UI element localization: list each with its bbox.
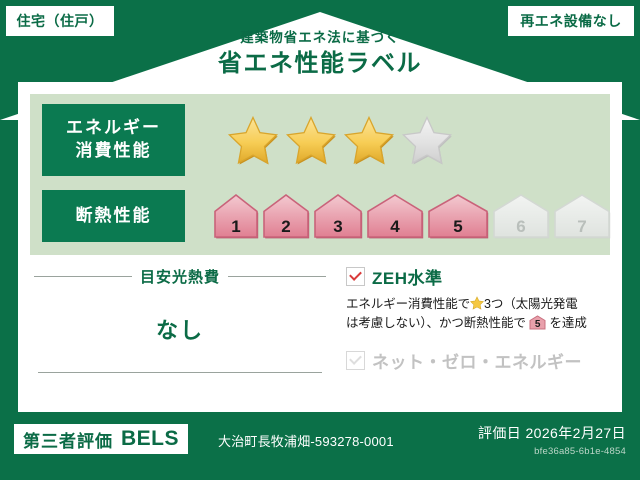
insulation-level-number: 3 (313, 218, 363, 235)
utility-cost-bottom-rule (38, 372, 322, 373)
insulation-performance-label: 断熱性能 (42, 190, 185, 242)
insulation-level-number: 7 (553, 218, 611, 235)
mini-house-badge-number: 5 (529, 320, 546, 330)
mini-house-badge-icon: 5 (529, 315, 546, 330)
tag-renewable-equipment: 再エネ設備なし (508, 6, 634, 36)
mini-star-icon (470, 296, 484, 310)
bels-en-label: BELS (121, 427, 179, 451)
net-zero-checkbox (346, 351, 365, 370)
energy-label-line2: 消費性能 (76, 140, 152, 163)
zeh-desc-part1: エネルギー消費性能で (346, 297, 470, 311)
utility-cost-column: 目安光熱費 なし (30, 262, 330, 400)
insulation-level-badge: 6 (492, 193, 550, 239)
insulation-level-number: 2 (262, 218, 310, 235)
insulation-level-badge: 7 (553, 193, 611, 239)
star-empty-icon (401, 114, 453, 166)
property-address: 大治町長牧浦畑-593278-0001 (218, 431, 394, 450)
utility-cost-heading-text: 目安光熱費 (140, 266, 220, 287)
insulation-label-line1: 断熱性能 (76, 205, 152, 228)
insulation-level-badge: 5 (427, 193, 489, 239)
zeh-desc-part3: を達成 (550, 316, 587, 330)
star-filled-icon (285, 114, 337, 166)
energy-performance-row: エネルギー 消費性能 (30, 104, 610, 176)
zeh-description: エネルギー消費性能で 3つ（太陽光発電 は考慮しない）、かつ断熱性能で 5 を達… (346, 295, 610, 334)
tag-building-type: 住宅（住戸） (6, 6, 114, 36)
zeh-standard-row: ZEH水準 (346, 264, 610, 289)
utility-cost-heading: 目安光熱費 (30, 266, 330, 287)
insulation-level-badge: 4 (366, 193, 424, 239)
bels-jp-label: 第三者評価 (23, 427, 113, 452)
utility-cost-value: なし (30, 313, 330, 345)
performance-panel: エネルギー 消費性能 断熱性能 1234567 (30, 94, 610, 255)
net-zero-title: ネット・ゼロ・エネルギー (372, 348, 582, 373)
energy-performance-label: エネルギー 消費性能 (42, 104, 185, 176)
energy-label-line1: エネルギー (66, 117, 161, 140)
lower-section: 目安光熱費 なし ZEH水準 エネルギー消費性能で 3つ（太陽光発電 は考慮しな… (30, 262, 610, 400)
heading-rule-right (228, 276, 326, 277)
insulation-level-badge: 1 (213, 193, 259, 239)
star-rating (227, 114, 453, 166)
insulation-level-number: 1 (213, 218, 259, 235)
insulation-level-badge: 2 (262, 193, 310, 239)
zeh-desc-part2: は考慮しない）、かつ断熱性能で (346, 316, 526, 330)
bels-badge: 第三者評価 BELS (14, 424, 188, 454)
insulation-level-scale: 1234567 (213, 193, 611, 239)
heading-rule-left (34, 276, 132, 277)
zeh-checkbox (346, 267, 365, 286)
footer: 第三者評価 BELS 大治町長牧浦畑-593278-0001 評価日 2026年… (0, 412, 640, 480)
standards-column: ZEH水準 エネルギー消費性能で 3つ（太陽光発電 は考慮しない）、かつ断熱性能… (346, 262, 610, 400)
insulation-performance-row: 断熱性能 1234567 (30, 186, 610, 246)
insulation-level-number: 4 (366, 218, 424, 235)
insulation-level-badge: 3 (313, 193, 363, 239)
star-filled-icon (343, 114, 395, 166)
net-zero-standard-row: ネット・ゼロ・エネルギー (346, 348, 610, 373)
footer-meta: 評価日 2026年2月27日 bfe36a85-6b1e-4854 (478, 423, 626, 457)
evaluation-date: 評価日 2026年2月27日 (478, 423, 626, 443)
zeh-title: ZEH水準 (372, 264, 443, 289)
label-card: エネルギー 消費性能 断熱性能 1234567 目安光熱費 (18, 82, 622, 412)
insulation-level-number: 6 (492, 218, 550, 235)
zeh-desc-stars: 3つ（太陽光発電 (484, 297, 578, 311)
energy-label-root: 建築物省エネ法に基づく 省エネ性能ラベル 住宅（住戸） 再エネ設備なし エネルギ… (0, 0, 640, 480)
insulation-level-number: 5 (427, 218, 489, 235)
star-filled-icon (227, 114, 279, 166)
label-uuid: bfe36a85-6b1e-4854 (478, 446, 626, 457)
